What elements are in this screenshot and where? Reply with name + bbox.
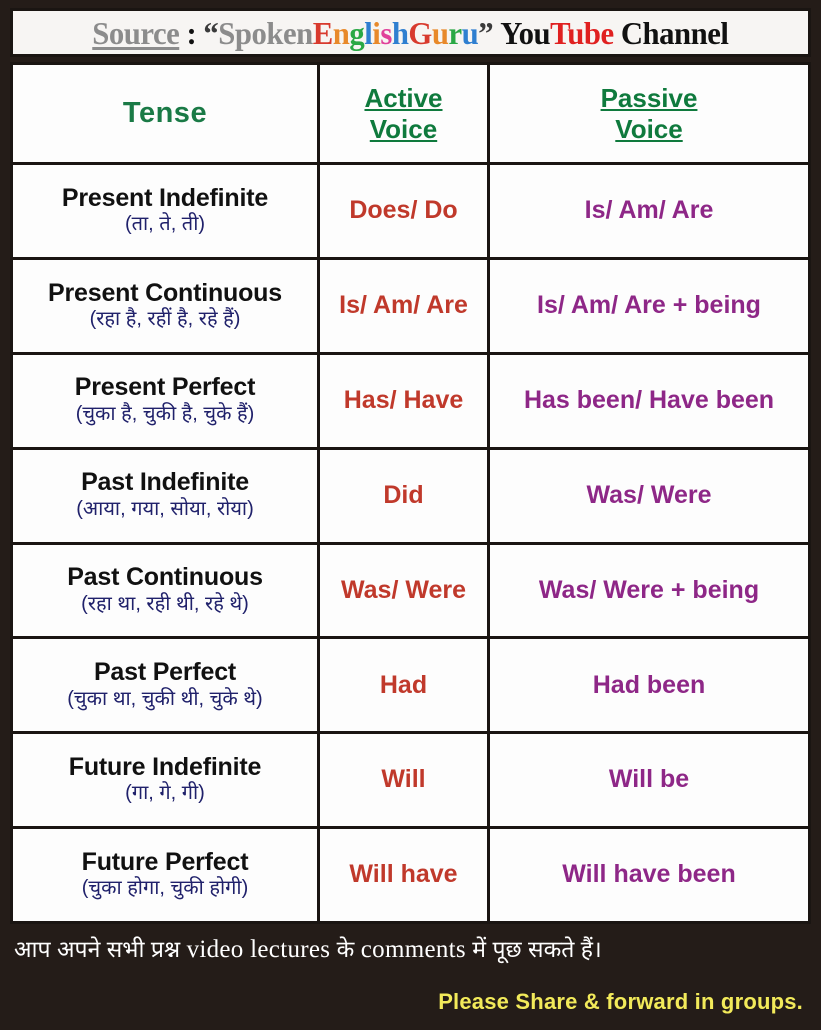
passive-voice-form: Had been [593,672,706,700]
tense-name-english: Past Perfect [94,659,236,686]
brand-letter: u [462,15,479,51]
footer-note-hindi: आप अपने सभी प्रश्न video lectures के com… [14,934,803,965]
tense-name-hindi: (चुका है, चुकी है, चुके हैं) [76,402,255,427]
header-cell-passive-voice: Passive Voice [490,65,808,162]
cell-active-voice: Did [320,450,490,542]
cell-passive-voice: Has been/ Have been [490,355,808,447]
cell-active-voice: Does/ Do [320,165,490,257]
table-row: Present Indefinite(ता, ते, ती)Does/ DoIs… [13,165,808,260]
cell-tense: Future Indefinite(गा, गे, गी) [13,734,320,826]
title-text: Source : “SpokenEnglishGuru” YouTube Cha… [92,17,728,49]
channel-word: Channel [621,15,729,51]
cell-tense: Present Indefinite(ता, ते, ती) [13,165,320,257]
table-header-row: Tense Active Voice Passive Voice [13,65,808,165]
open-quote: “ [204,15,219,51]
tense-name-hindi: (ता, ते, ती) [125,212,205,237]
footer-share-message: Please Share & forward in groups. [14,989,803,1015]
cell-passive-voice: Will be [490,734,808,826]
cell-tense: Past Continuous(रहा था, रही थी, रहे थे) [13,545,320,637]
footer-note-part2: के [330,936,360,962]
header-cell-active-voice: Active Voice [320,65,490,162]
tense-name-english: Past Indefinite [81,469,249,496]
title-colon: : [179,15,203,51]
youtube-tube: Tube [550,15,614,51]
source-label: Source [92,15,179,51]
tense-name-hindi: (रहा था, रही थी, रहे थे) [81,592,249,617]
brand-letter: l [364,15,372,51]
cell-active-voice: Had [320,639,490,731]
tense-name-english: Present Indefinite [62,185,268,212]
cell-active-voice: Is/ Am/ Are [320,260,490,352]
header-label-passive-voice: Passive Voice [601,83,698,144]
passive-voice-form: Is/ Am/ Are + being [537,292,761,320]
table-row: Future Perfect(चुका होगा, चुकी होगी)Will… [13,829,808,921]
close-quote: ” [478,15,493,51]
cell-passive-voice: Was/ Were + being [490,545,808,637]
cell-tense: Present Continuous(रहा है, रहीं है, रहे … [13,260,320,352]
active-voice-form: Was/ Were [341,577,466,605]
active-voice-form: Had [380,672,427,700]
table-body: Present Indefinite(ता, ते, ती)Does/ DoIs… [13,165,808,921]
footer-note-part1: आप अपने सभी प्रश्न [14,936,187,962]
brand-letter: s [381,15,392,51]
active-voice-form: Does/ Do [349,197,457,225]
footer-bar: आप अपने सभी प्रश्न video lectures के com… [0,924,821,1030]
passive-voice-form: Was/ Were + being [539,577,759,605]
cell-tense: Past Indefinite(आया, गया, सोया, रोया) [13,450,320,542]
header-label-active-voice: Active Voice [364,83,442,144]
header-cell-tense: Tense [13,65,320,162]
brand-letter: u [432,15,449,51]
active-voice-form: Did [383,482,423,510]
cell-active-voice: Has/ Have [320,355,490,447]
footer-note-comments: comments [361,936,466,963]
header-passive-line2: Voice [601,114,698,145]
tense-name-english: Present Perfect [75,374,255,401]
tense-name-english: Past Continuous [67,564,263,591]
passive-voice-form: Will have been [562,861,735,889]
brand-letter: r [449,15,462,51]
brand-name: SpokenEnglishGuru [218,15,478,51]
active-voice-form: Will [381,766,425,794]
tense-name-english: Present Continuous [48,280,282,307]
cell-active-voice: Was/ Were [320,545,490,637]
cell-passive-voice: Is/ Am/ Are + being [490,260,808,352]
youtube-you: You [500,15,550,51]
active-voice-form: Is/ Am/ Are [339,292,468,320]
header-active-line1: Active [364,83,442,114]
cell-tense: Past Perfect(चुका था, चुकी थी, चुके थे) [13,639,320,731]
tense-name-english: Future Perfect [82,849,249,876]
table-row: Past Perfect(चुका था, चुकी थी, चुके थे)H… [13,639,808,734]
passive-voice-form: Will be [609,766,689,794]
cell-tense: Future Perfect(चुका होगा, चुकी होगी) [13,829,320,921]
title-bar: Source : “SpokenEnglishGuru” YouTube Cha… [10,8,811,57]
cell-passive-voice: Will have been [490,829,808,921]
passive-voice-form: Was/ Were [586,482,711,510]
brand-letter: n [333,15,350,51]
tense-voice-table: Tense Active Voice Passive Voice Present… [10,62,811,924]
header-label-tense: Tense [123,97,207,130]
brand-letter: G [409,15,432,51]
passive-voice-form: Is/ Am/ Are [585,197,714,225]
cell-active-voice: Will have [320,829,490,921]
cell-passive-voice: Is/ Am/ Are [490,165,808,257]
table-row: Past Indefinite(आया, गया, सोया, रोया)Did… [13,450,808,545]
active-voice-form: Has/ Have [344,387,464,415]
tense-name-hindi: (रहा है, रहीं है, रहे हैं) [90,307,241,332]
brand-letter: h [392,15,409,51]
tense-name-hindi: (आया, गया, सोया, रोया) [76,497,254,522]
table-row: Future Indefinite(गा, गे, गी)WillWill be [13,734,808,829]
footer-note-video-lectures: video lectures [187,936,331,963]
cell-tense: Present Perfect(चुका है, चुकी है, चुके ह… [13,355,320,447]
passive-voice-form: Has been/ Have been [524,387,774,415]
brand-letter: g [350,15,365,51]
tense-name-english: Future Indefinite [69,754,261,781]
table-row: Present Continuous(रहा है, रहीं है, रहे … [13,260,808,355]
cell-passive-voice: Had been [490,639,808,731]
tense-name-hindi: (चुका होगा, चुकी होगी) [82,876,249,901]
cell-active-voice: Will [320,734,490,826]
header-passive-line1: Passive [601,83,698,114]
active-voice-form: Will have [349,861,457,889]
tense-name-hindi: (चुका था, चुकी थी, चुके थे) [67,687,262,712]
brand-letter: E [313,15,333,51]
footer-note-part3: में पूछ सकते हैं। [466,936,602,962]
brand-letter: Spoken [218,15,312,51]
tense-name-hindi: (गा, गे, गी) [125,781,205,806]
cell-passive-voice: Was/ Were [490,450,808,542]
table-row: Present Perfect(चुका है, चुकी है, चुके ह… [13,355,808,450]
header-active-line2: Voice [364,114,442,145]
table-row: Past Continuous(रहा था, रही थी, रहे थे)W… [13,545,808,640]
infographic-page: Source : “SpokenEnglishGuru” YouTube Cha… [0,0,821,1030]
